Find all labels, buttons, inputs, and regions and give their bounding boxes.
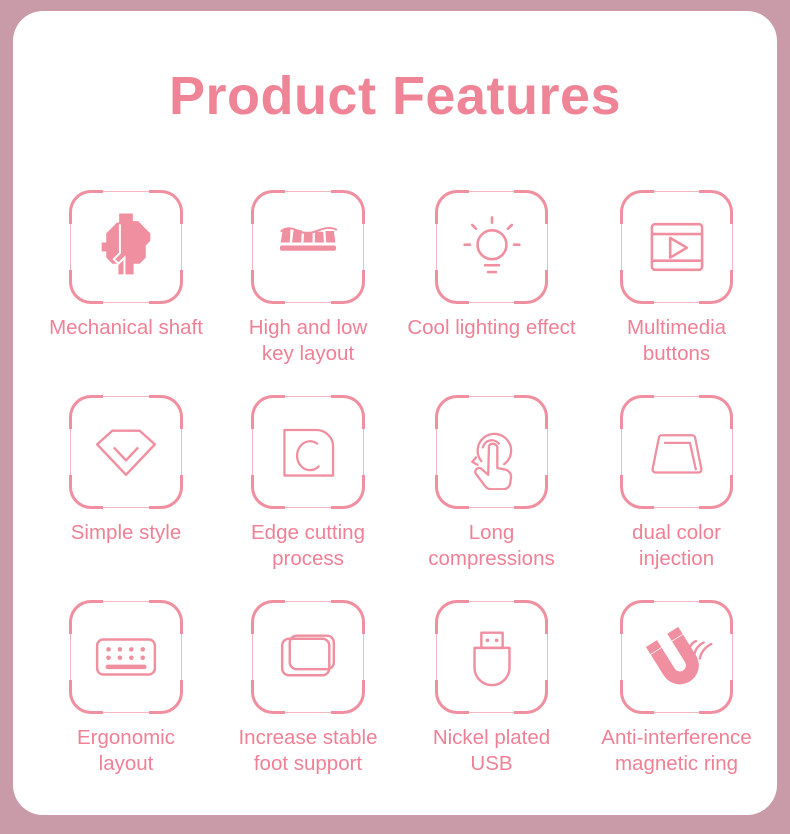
icon-frame (70, 396, 182, 508)
icon-frame (436, 191, 548, 303)
frame-corner-accents (253, 192, 363, 302)
icon-frame (436, 601, 548, 713)
feature-label: Multimedia buttons (584, 315, 769, 367)
poster-root: Product Features Mechanical shaft (0, 0, 790, 834)
frame-corner-accents (622, 602, 732, 712)
feature-label: Edge cutting process (217, 520, 399, 572)
page-title: Product Features (13, 69, 777, 123)
frame-corner-accents (437, 602, 547, 712)
feature-item[interactable]: Nickel plated USB (399, 601, 584, 806)
frame-corner-accents (622, 397, 732, 507)
feature-label: Simple style (35, 520, 217, 546)
feature-item[interactable]: Cool lighting effect (399, 191, 584, 396)
feature-label: Cool lighting effect (399, 315, 584, 341)
feature-grid: Mechanical shaft (35, 191, 755, 806)
icon-frame (252, 601, 364, 713)
feature-label: Nickel plated USB (399, 725, 584, 777)
icon-frame (252, 396, 364, 508)
frame-corner-accents (71, 397, 181, 507)
icon-frame (252, 191, 364, 303)
frame-corner-accents (253, 602, 363, 712)
icon-frame (621, 191, 733, 303)
frame-corner-accents (253, 397, 363, 507)
feature-item[interactable]: Anti-interference magnetic ring (584, 601, 769, 806)
feature-item[interactable]: Ergonomic layout (35, 601, 217, 806)
feature-label: dual color injection (584, 520, 769, 572)
icon-frame (436, 396, 548, 508)
icon-frame (70, 601, 182, 713)
feature-item[interactable]: Increase stable foot support (217, 601, 399, 806)
feature-label: Mechanical shaft (35, 315, 217, 341)
feature-label: High and low key layout (217, 315, 399, 367)
feature-item[interactable]: dual color injection (584, 396, 769, 601)
feature-item[interactable]: High and low key layout (217, 191, 399, 396)
feature-card: Product Features Mechanical shaft (13, 11, 777, 815)
feature-label: Increase stable foot support (217, 725, 399, 777)
feature-item[interactable]: Simple style (35, 396, 217, 601)
frame-corner-accents (437, 192, 547, 302)
feature-item[interactable]: Long compressions (399, 396, 584, 601)
frame-corner-accents (622, 192, 732, 302)
frame-corner-accents (71, 192, 181, 302)
icon-frame (70, 191, 182, 303)
feature-item[interactable]: Multimedia buttons (584, 191, 769, 396)
feature-item[interactable]: Edge cutting process (217, 396, 399, 601)
frame-corner-accents (437, 397, 547, 507)
icon-frame (621, 396, 733, 508)
frame-corner-accents (71, 602, 181, 712)
feature-label: Long compressions (399, 520, 584, 572)
icon-frame (621, 601, 733, 713)
feature-label: Anti-interference magnetic ring (584, 725, 769, 777)
feature-item[interactable]: Mechanical shaft (35, 191, 217, 396)
feature-label: Ergonomic layout (35, 725, 217, 777)
